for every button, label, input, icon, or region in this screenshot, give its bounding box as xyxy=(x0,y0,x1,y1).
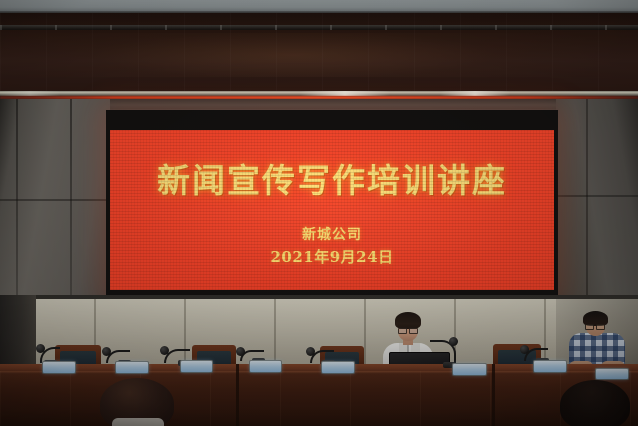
speaker-glasses xyxy=(398,327,418,332)
microphone-head xyxy=(449,337,458,346)
glasses-lens-left xyxy=(398,328,407,334)
nameplate-display xyxy=(452,363,487,376)
nameplate-lcd xyxy=(453,364,486,375)
nameplate-display xyxy=(321,361,355,374)
panel-seam xyxy=(586,99,588,295)
nameplate-display xyxy=(115,361,149,374)
dais-seam xyxy=(492,364,495,426)
glasses-lens-right xyxy=(596,324,605,330)
attendee-glasses xyxy=(585,324,605,328)
nameplate-lcd xyxy=(43,362,75,373)
conference-room-photo: 新闻宣传写作培训讲座 新城公司 2021年9月24日 xyxy=(0,0,638,426)
nameplate-lcd xyxy=(322,362,354,373)
glasses-lens-right xyxy=(409,328,418,334)
audience-shoulders-left xyxy=(112,418,164,426)
nameplate-lcd xyxy=(250,361,281,372)
nameplate-display xyxy=(42,361,76,374)
nameplate-display xyxy=(595,368,629,380)
mid-wall-left-panels xyxy=(0,99,110,295)
glasses-lens-left xyxy=(585,324,594,330)
mid-wall-right-panels xyxy=(556,99,638,295)
nameplate-lcd xyxy=(534,361,566,372)
nameplate-lcd xyxy=(181,361,212,372)
slide-title: 新闻宣传写作培训讲座 xyxy=(110,154,554,202)
audience-head-right xyxy=(560,380,630,426)
dais-front-panel xyxy=(0,371,638,426)
panel-seam xyxy=(0,199,110,201)
panel-seam xyxy=(16,99,18,295)
nameplate-display xyxy=(249,360,282,373)
panel-seam xyxy=(70,99,72,295)
slide-organization: 新城公司 xyxy=(110,224,554,244)
microphone-head xyxy=(160,346,169,355)
dais-seam xyxy=(236,364,239,426)
panel-seam xyxy=(364,299,366,373)
microphone-head xyxy=(236,347,245,356)
upper-wood-wall xyxy=(0,13,638,93)
nameplate-display xyxy=(533,360,567,373)
nameplate-lcd xyxy=(596,369,628,379)
nameplate-lcd xyxy=(116,362,148,373)
led-screen: 新闻宣传写作培训讲座 新城公司 2021年9月24日 xyxy=(110,130,554,290)
microphone-head xyxy=(102,347,111,356)
wood-wall-sheen xyxy=(0,33,638,77)
microphone-head xyxy=(36,344,45,353)
microphone-head xyxy=(520,345,529,354)
nameplate-display xyxy=(180,360,213,373)
panel-seam xyxy=(556,195,638,197)
slide-date: 2021年9月24日 xyxy=(110,246,554,267)
lower-wall-left-shadow xyxy=(0,295,36,373)
microphone-head xyxy=(306,347,315,356)
wood-wall-grill xyxy=(0,25,638,30)
